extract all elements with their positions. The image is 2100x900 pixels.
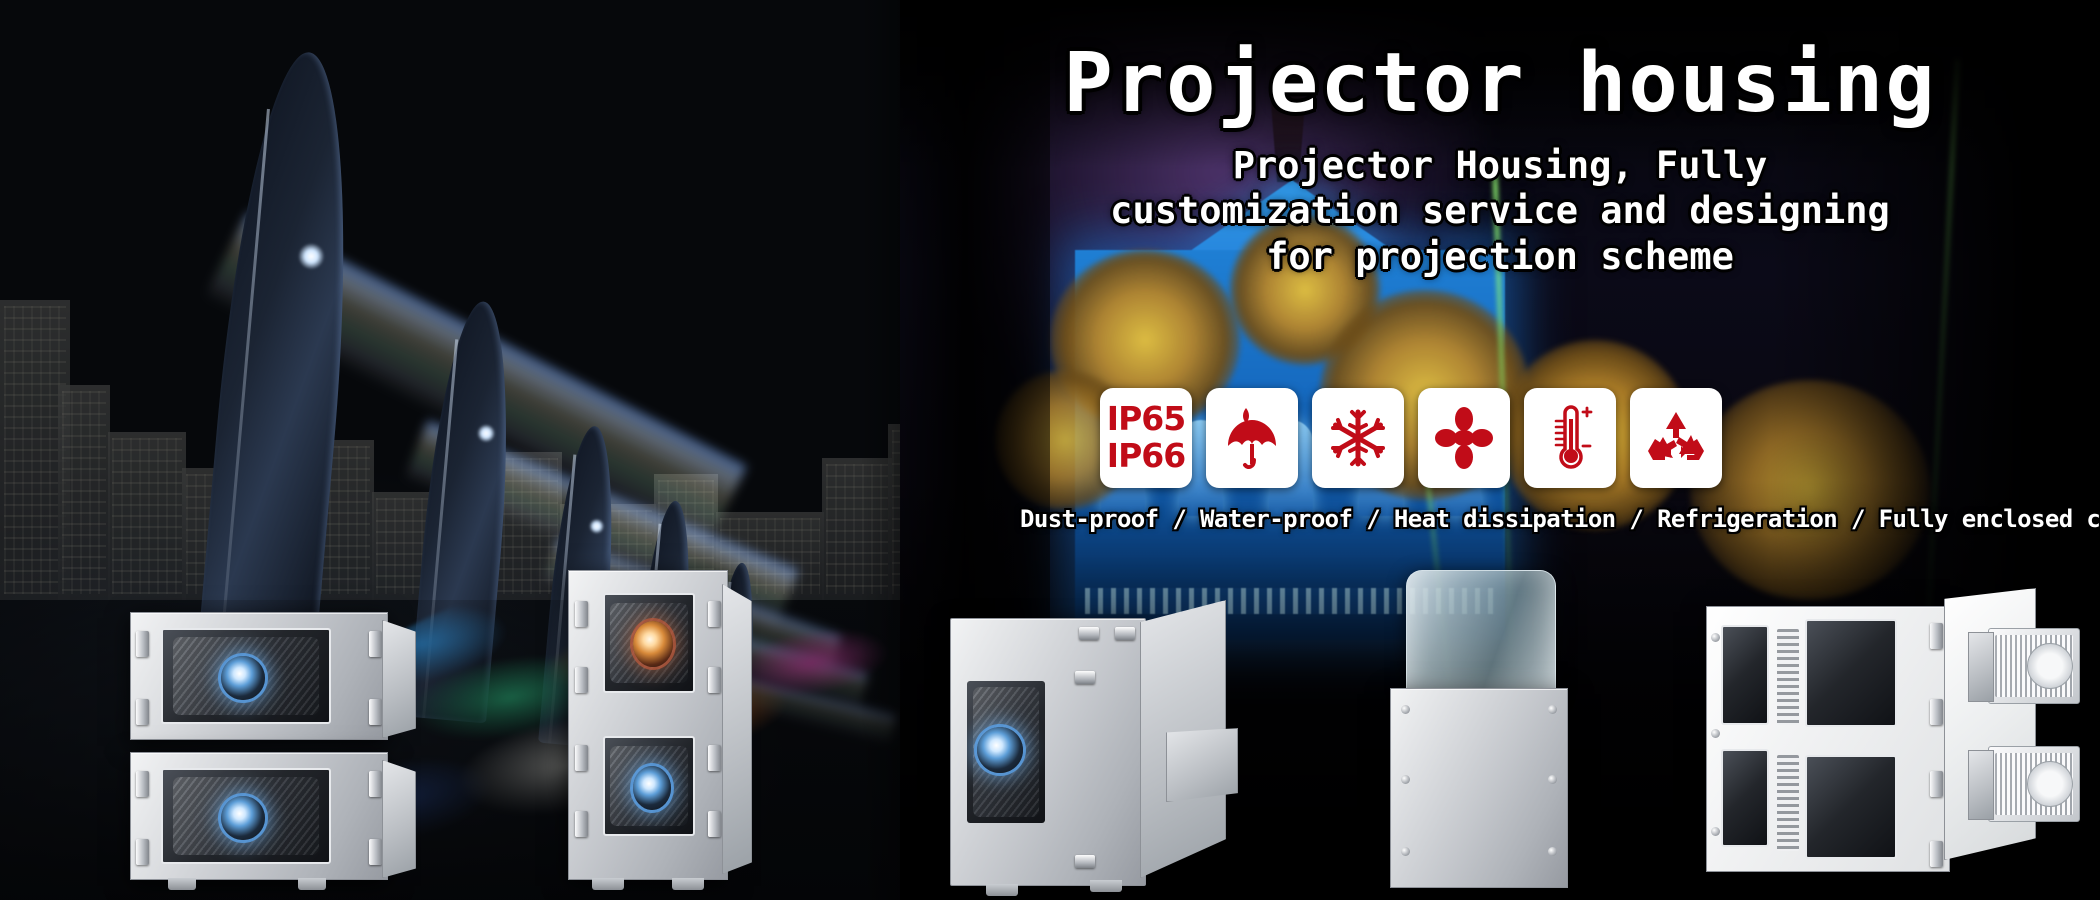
badge-temperature	[1524, 388, 1616, 488]
page-title: Projector housing	[930, 40, 2070, 129]
promo-banner: Projector housing Projector Housing, Ful…	[0, 0, 2100, 900]
subtitle-line-1: Projector Housing, Fully	[930, 143, 2070, 189]
headline-block: Projector housing Projector Housing, Ful…	[930, 40, 2070, 280]
thermometer-icon	[1544, 405, 1596, 471]
product-white-dual-chamber-enclosure	[1706, 578, 2100, 890]
product-vertical-stacked-white-enclosure	[568, 570, 758, 890]
subtitle-line-3: for projection scheme	[930, 234, 2070, 280]
ip-rating-icon: IP65	[1107, 402, 1185, 437]
recycle-icon	[1647, 410, 1705, 466]
badge-refrigeration	[1418, 388, 1510, 488]
product-dual-stacked-grey-enclosure	[130, 612, 420, 890]
product-glass-dome-enclosure	[1380, 570, 1590, 890]
subtitle-line-2: customization service and designing	[930, 188, 2070, 234]
badge-heat-dissipation	[1312, 388, 1404, 488]
air-conditioner-unit	[1988, 628, 2080, 704]
ip-rating-line-2: IP66	[1107, 439, 1185, 474]
feature-text: Dust-proof / Water-proof / Heat dissipat…	[1020, 505, 2100, 533]
badge-ip-rating: IP65 IP66	[1100, 388, 1192, 488]
umbrella-icon	[1224, 406, 1280, 470]
glass-dome	[1406, 570, 1556, 692]
badge-circulation	[1630, 388, 1722, 488]
fan-icon	[1435, 407, 1493, 469]
snowflake-icon	[1329, 409, 1387, 467]
air-conditioner-unit	[1988, 746, 2080, 822]
badge-water-proof	[1206, 388, 1298, 488]
feature-badge-row: IP65 IP66	[1100, 388, 1722, 488]
subtitle-block: Projector Housing, Fully customization s…	[930, 143, 2070, 281]
product-single-grey-cabinet	[950, 600, 1250, 890]
